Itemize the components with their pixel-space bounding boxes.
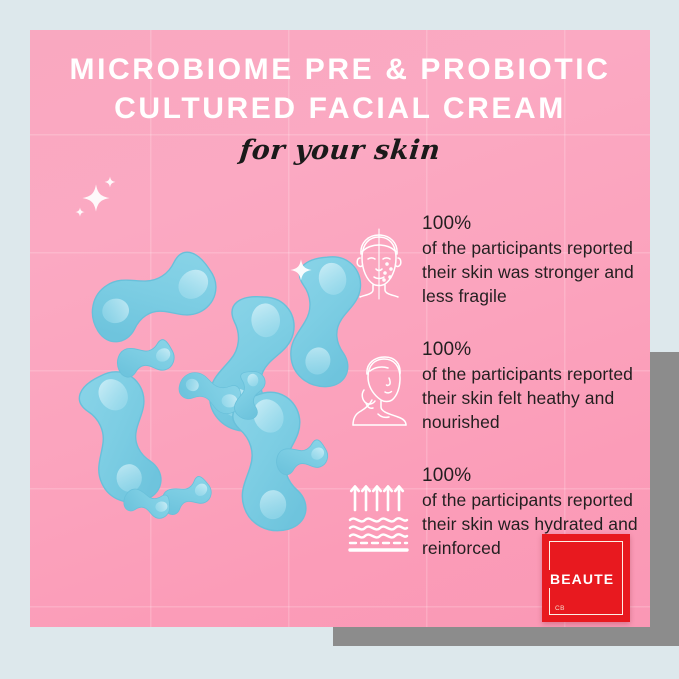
split-face-icon [348,228,410,300]
hydration-arrows-icon [348,480,410,552]
claim-body: of the participants reported their skin … [422,362,650,434]
claim-percent: 100% [422,338,650,362]
logo-wordmark: BEAUTE [545,570,618,588]
poster-canvas: MICROBIOME PRE & PROBIOTIC CULTURED FACI… [0,0,679,679]
claim-item: 100% of the participants reported their … [348,208,650,308]
headline-line-2: CULTURED FACIAL CREAM [30,89,650,128]
headline-script-tagline: for your skin [30,135,650,166]
claim-item: 100% of the participants reported their … [348,334,650,434]
claim-percent: 100% [422,464,650,488]
logo-subtext: CB [553,605,567,612]
sparkle-cluster-left [75,177,115,217]
claim-percent: 100% [422,212,650,236]
headline-line-1: MICROBIOME PRE & PROBIOTIC [30,50,650,89]
claim-text: 100% of the participants reported their … [422,208,650,308]
page-title: MICROBIOME PRE & PROBIOTIC CULTURED FACI… [30,50,650,166]
claims-list: 100% of the participants reported their … [348,208,650,586]
claim-text: 100% of the participants reported their … [422,334,650,434]
product-panel: MICROBIOME PRE & PROBIOTIC CULTURED FACI… [30,30,650,627]
claim-body: of the participants reported their skin … [422,236,650,308]
woman-touching-face-icon [348,354,410,426]
brand-logo: BEAUTE CB [542,534,630,622]
